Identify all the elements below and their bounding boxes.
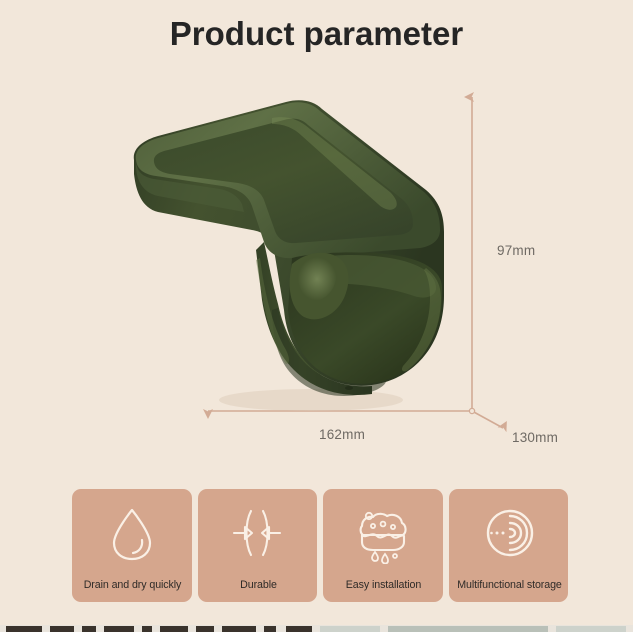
product-shadow <box>219 389 403 411</box>
durability-flex-icon <box>226 502 288 564</box>
product-image <box>96 82 464 412</box>
feature-card-durable[interactable]: Durable <box>198 489 318 602</box>
depth-dimension-line <box>472 411 503 428</box>
feature-card-list: Drain and dry quickly Durable <box>72 489 568 602</box>
feature-label-multifunctional-storage: Multifunctional storage <box>450 579 567 591</box>
feature-label-durable: Durable <box>199 579 316 591</box>
dimension-origin-node <box>469 408 474 413</box>
feature-label-drain-and-dry: Drain and dry quickly <box>74 579 191 591</box>
product-drain-hole <box>345 386 353 390</box>
feature-label-easy-installation: Easy installation <box>325 579 442 591</box>
suction-cup-icon <box>477 502 539 564</box>
depth-dimension-label: 130mm <box>512 430 558 445</box>
page-title: Product parameter <box>0 14 633 54</box>
next-section-preview <box>0 625 633 632</box>
water-droplet-icon <box>101 502 163 564</box>
product-illustration-svg <box>96 82 464 412</box>
width-dimension-label: 162mm <box>319 427 365 442</box>
sponge-icon <box>352 502 414 564</box>
height-dimension-label: 97mm <box>497 243 535 258</box>
feature-card-drain-and-dry[interactable]: Drain and dry quickly <box>72 489 192 602</box>
product-parameter-page: Product parameter <box>0 0 633 632</box>
feature-card-multifunctional-storage[interactable]: Multifunctional storage <box>449 489 569 602</box>
feature-card-easy-installation[interactable]: Easy installation <box>323 489 443 602</box>
